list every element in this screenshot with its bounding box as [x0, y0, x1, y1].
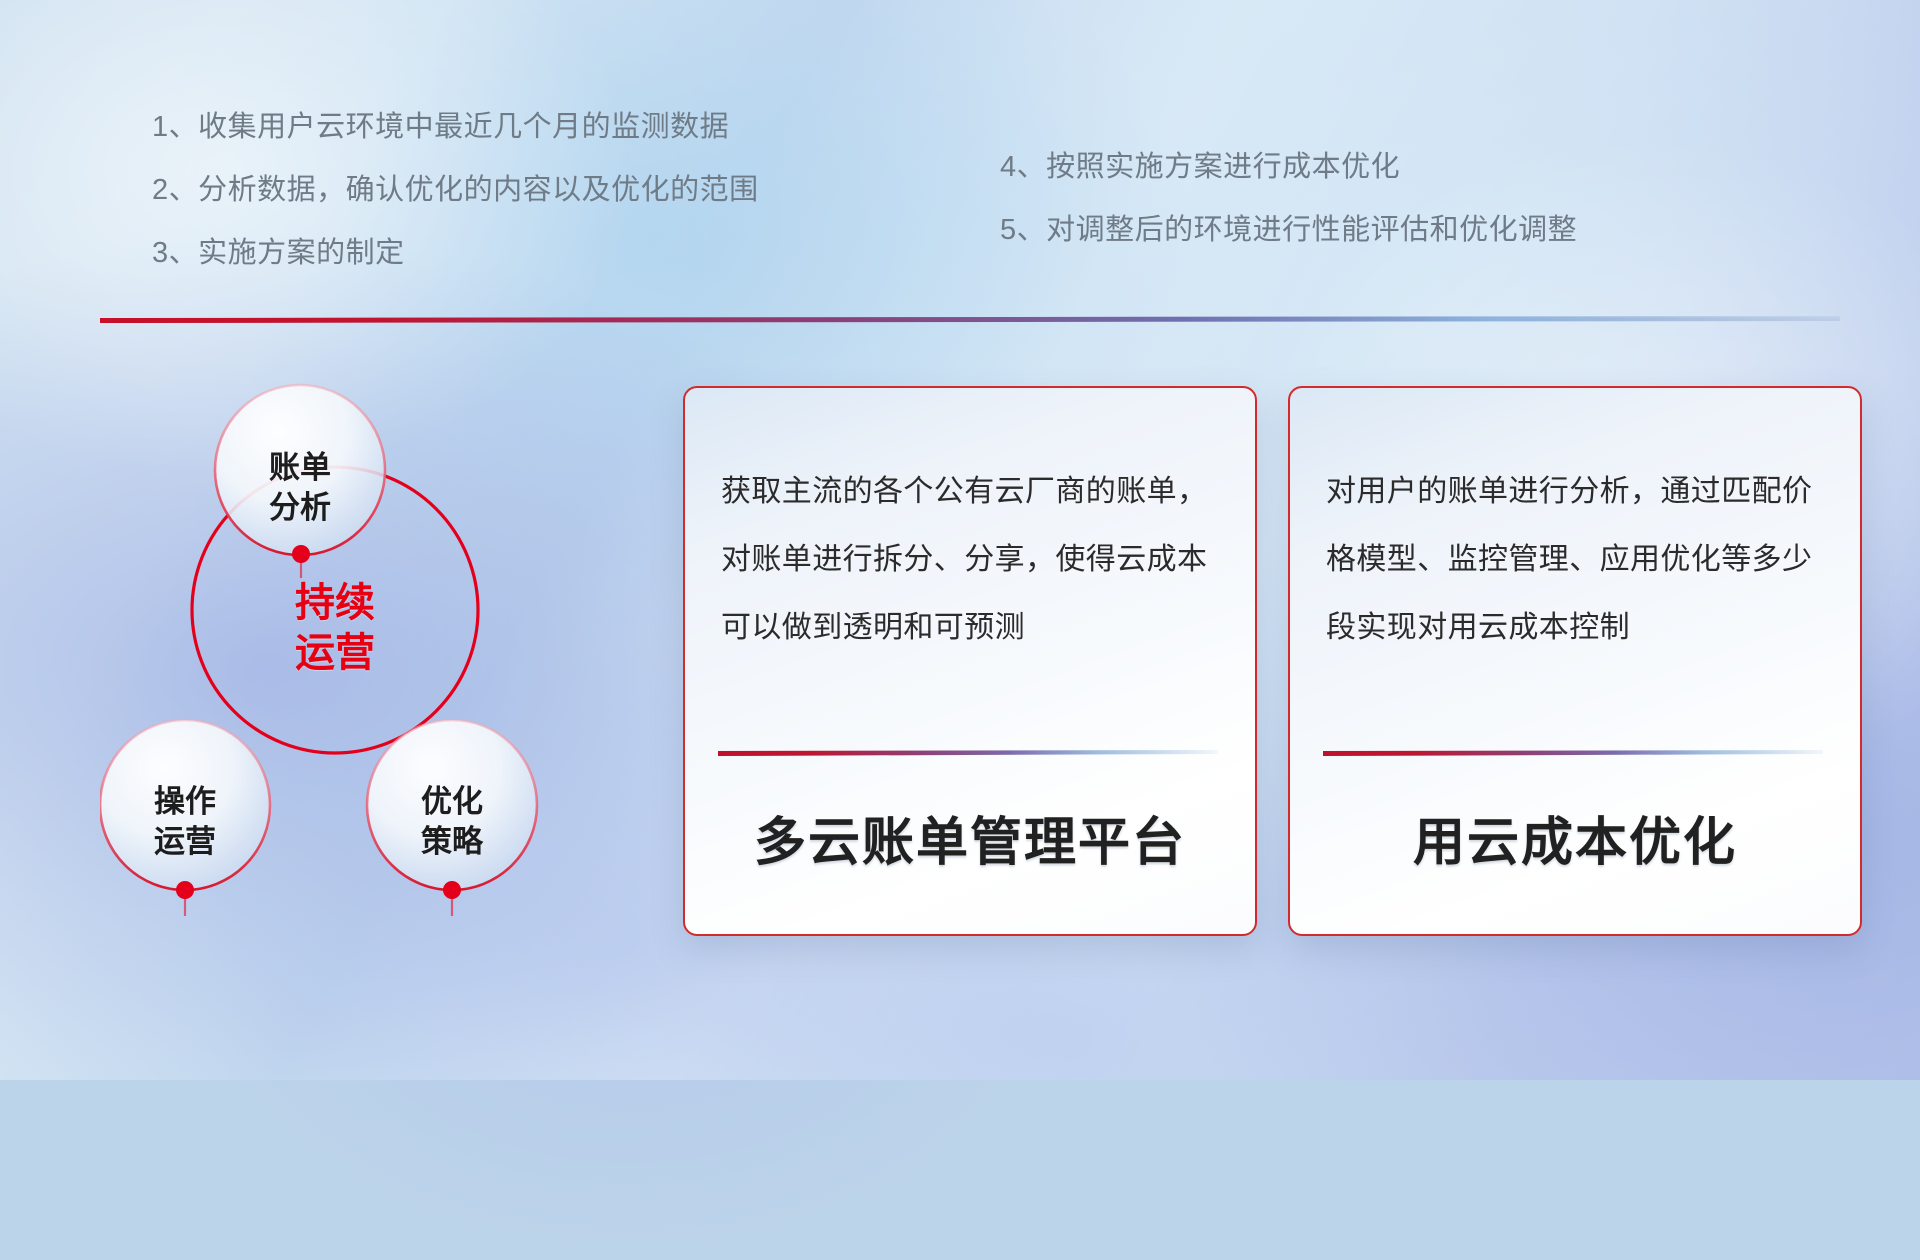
bullet-lists: 1、收集用户云环境中最近几个月的监测数据 2、分析数据，确认优化的内容以及优化的… [0, 96, 1920, 276]
bullet-column-left: 1、收集用户云环境中最近几个月的监测数据 2、分析数据，确认优化的内容以及优化的… [152, 96, 759, 285]
card-title: 多云账单管理平台 [685, 800, 1255, 875]
venn-label-top-line2: 分析 [240, 488, 360, 528]
header-divider-rule [100, 316, 1840, 323]
card-body-text: 获取主流的各个公有云厂商的账单，对账单进行拆分、分享，使得云成本可以做到透明和可… [721, 458, 1225, 662]
venn-label-center-line1: 持续 [275, 578, 395, 628]
card-divider-rule [718, 750, 1218, 756]
venn-label-left-line2: 运营 [125, 822, 245, 862]
venn-label-left: 操作 运营 [125, 782, 245, 862]
bullet-item: 1、收集用户云环境中最近几个月的监测数据 [152, 96, 759, 159]
card-title: 用云成本优化 [1290, 800, 1860, 875]
venn-label-top: 账单 分析 [240, 448, 360, 528]
bullet-item: 2、分析数据，确认优化的内容以及优化的范围 [152, 159, 759, 222]
bullet-item: 4、按照实施方案进行成本优化 [1000, 136, 1577, 199]
content-card[interactable]: 获取主流的各个公有云厂商的账单，对账单进行拆分、分享，使得云成本可以做到透明和可… [683, 386, 1257, 936]
venn-label-right-line1: 优化 [392, 782, 512, 822]
bullet-column-right: 4、按照实施方案进行成本优化 5、对调整后的环境进行性能评估和优化调整 [1000, 136, 1577, 262]
bullet-item: 3、实施方案的制定 [152, 222, 759, 285]
venn-label-right: 优化 策略 [392, 782, 512, 862]
venn-label-right-line2: 策略 [392, 822, 512, 862]
card-divider-rule [1323, 750, 1823, 756]
venn-label-left-line1: 操作 [125, 782, 245, 822]
bullet-item: 5、对调整后的环境进行性能评估和优化调整 [1000, 199, 1577, 262]
venn-label-center-line2: 运营 [275, 628, 395, 678]
venn-diagram: 账单 分析 持续 运营 操作 运营 优化 策略 [100, 350, 620, 950]
venn-label-center: 持续 运营 [275, 578, 395, 678]
content-card[interactable]: 对用户的账单进行分析，通过匹配价格模型、监控管理、应用优化等多少段实现对用云成本… [1288, 386, 1862, 936]
slide-background: 1、收集用户云环境中最近几个月的监测数据 2、分析数据，确认优化的内容以及优化的… [0, 0, 1920, 1080]
card-body-text: 对用户的账单进行分析，通过匹配价格模型、监控管理、应用优化等多少段实现对用云成本… [1326, 458, 1830, 662]
venn-label-top-line1: 账单 [240, 448, 360, 488]
